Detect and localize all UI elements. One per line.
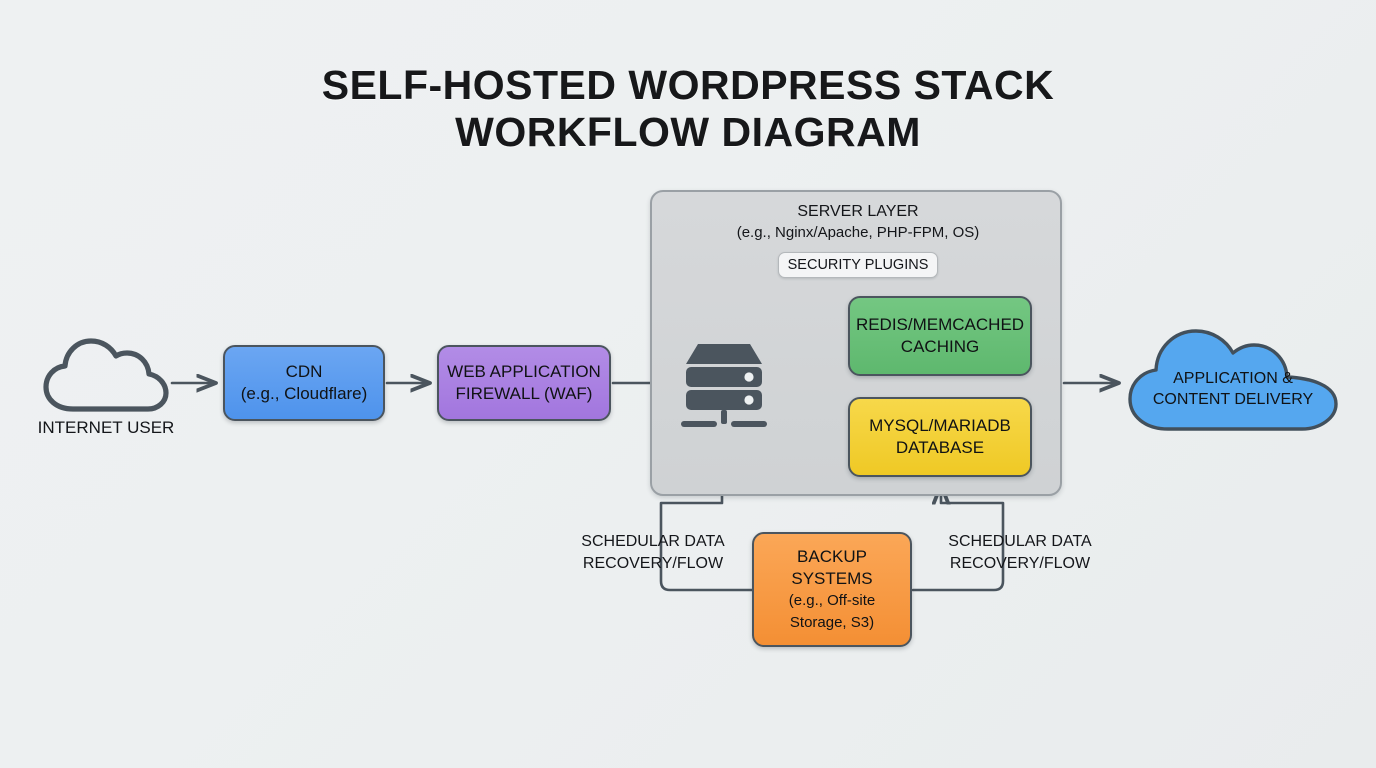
schedular-label-right: SCHEDULAR DATA RECOVERY/FLOW: [925, 531, 1115, 575]
internet-user-label: INTERNET USER: [10, 418, 202, 438]
cache-line-2: CACHING: [901, 336, 979, 358]
server-layer-title: SERVER LAYER: [652, 201, 1064, 223]
backup-line-2: SYSTEMS: [791, 568, 872, 590]
schedular-label-right-line-2: RECOVERY/FLOW: [925, 553, 1115, 575]
schedular-label-left: SCHEDULAR DATA RECOVERY/FLOW: [558, 531, 748, 575]
server-layer-subtitle: (e.g., Nginx/Apache, PHP-FPM, OS): [652, 222, 1064, 243]
security-plugins-badge[interactable]: SECURITY PLUGINS: [778, 252, 938, 278]
backup-systems-node[interactable]: BACKUP SYSTEMS (e.g., Off-site Storage, …: [752, 532, 912, 647]
waf-line-1: WEB APPLICATION: [447, 361, 601, 383]
waf-node[interactable]: WEB APPLICATION FIREWALL (WAF): [437, 345, 611, 421]
database-node[interactable]: MYSQL/MARIADB DATABASE: [848, 397, 1032, 477]
database-line-2: DATABASE: [896, 437, 984, 459]
backup-line-3: (e.g., Off-site: [789, 590, 875, 612]
cache-node[interactable]: REDIS/MEMCACHED CACHING: [848, 296, 1032, 376]
waf-line-2: FIREWALL (WAF): [456, 383, 593, 405]
server-rack-icon: [678, 342, 770, 430]
cloud-outline-icon: [42, 336, 170, 414]
cache-line-1: REDIS/MEMCACHED: [856, 314, 1024, 336]
schedular-label-right-line-1: SCHEDULAR DATA: [925, 531, 1115, 553]
schedular-label-left-line-1: SCHEDULAR DATA: [558, 531, 748, 553]
cdn-line-1: CDN: [286, 361, 323, 383]
backup-line-4: Storage, S3): [790, 612, 874, 634]
security-plugins-label: SECURITY PLUGINS: [788, 257, 929, 273]
diagram-canvas: SELF-HOSTED WORDPRESS STACK WORKFLOW DIA…: [0, 0, 1376, 768]
cloud-filled-icon[interactable]: [1126, 318, 1340, 434]
schedular-label-left-line-2: RECOVERY/FLOW: [558, 553, 748, 575]
backup-line-1: BACKUP: [797, 546, 867, 568]
database-line-1: MYSQL/MARIADB: [869, 415, 1011, 437]
cdn-node[interactable]: CDN (e.g., Cloudflare): [223, 345, 385, 421]
cdn-line-2: (e.g., Cloudflare): [241, 383, 368, 405]
